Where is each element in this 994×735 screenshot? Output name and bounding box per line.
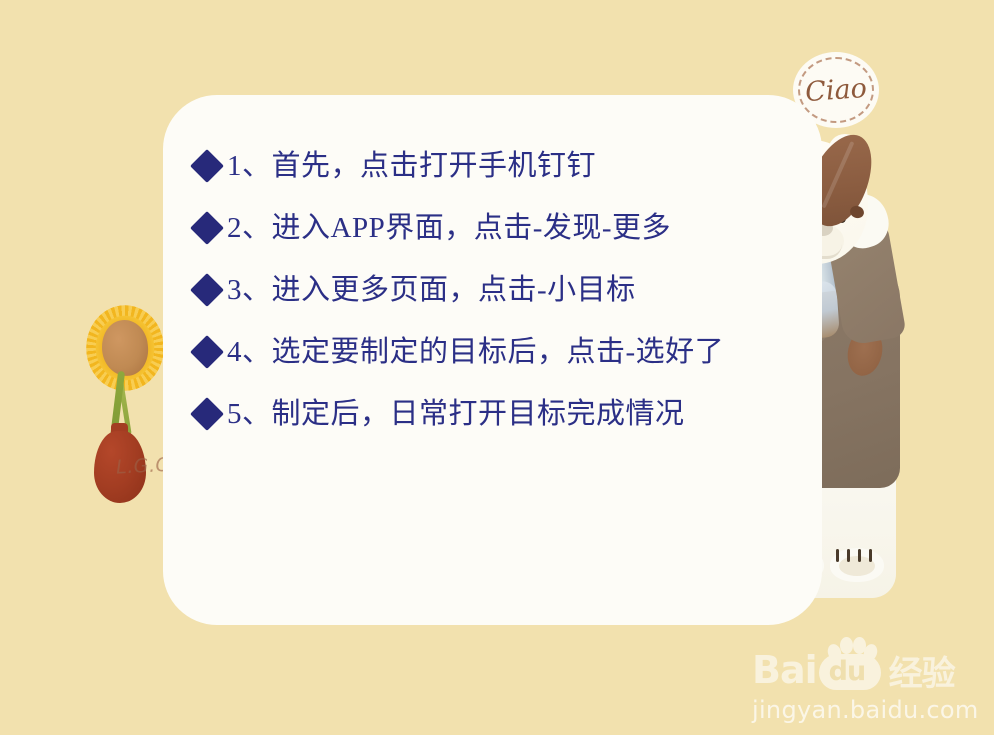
step-text: 3、进入更多页面，点击-小目标 — [227, 276, 636, 305]
diamond-bullet-icon — [190, 273, 224, 307]
step-text: 4、选定要制定的目标后，点击-选好了 — [227, 338, 724, 367]
diamond-bullet-icon — [190, 149, 224, 183]
list-item: 3、进入更多页面，点击-小目标 — [193, 259, 798, 321]
screenshot-canvas: L.G.C's yard~ — [0, 0, 994, 735]
diamond-bullet-icon — [190, 211, 224, 245]
watermark-url: jingyan.baidu.com — [752, 696, 984, 724]
bear-claw — [847, 549, 850, 562]
baidu-logo-du: du — [829, 656, 866, 687]
diamond-bullet-icon — [190, 335, 224, 369]
bear-claw — [836, 549, 839, 562]
list-item: 5、制定后，日常打开目标完成情况 — [193, 383, 798, 445]
list-item: 1、首先，点击打开手机钉钉 — [193, 135, 798, 197]
bear-claw — [869, 549, 872, 562]
step-text: 1、首先，点击打开手机钉钉 — [227, 152, 596, 181]
diamond-bullet-icon — [190, 397, 224, 431]
baidu-logo-bai: Bai — [752, 648, 817, 692]
list-item: 2、进入APP界面，点击-发现-更多 — [193, 197, 798, 259]
paw-toe — [840, 637, 853, 654]
list-item: 4、选定要制定的目标后，点击-选好了 — [193, 321, 798, 383]
bear-foot-right — [830, 548, 884, 582]
baidu-jingyan-label: 经验 — [889, 646, 955, 695]
step-text: 5、制定后，日常打开目标完成情况 — [227, 400, 685, 429]
step-text: 2、进入APP界面，点击-发现-更多 — [227, 214, 671, 243]
baidu-logo-du-mark: du — [819, 648, 881, 692]
baidu-logo: Bai du 经验 — [752, 648, 984, 692]
steps-list: 1、首先，点击打开手机钉钉 2、进入APP界面，点击-发现-更多 3、进入更多页… — [193, 135, 798, 445]
bear-claw — [858, 549, 861, 562]
steps-card: 1、首先，点击打开手机钉钉 2、进入APP界面，点击-发现-更多 3、进入更多页… — [163, 95, 822, 625]
baidu-jingyan-watermark: Bai du 经验 jingyan.baidu.com — [752, 648, 984, 722]
